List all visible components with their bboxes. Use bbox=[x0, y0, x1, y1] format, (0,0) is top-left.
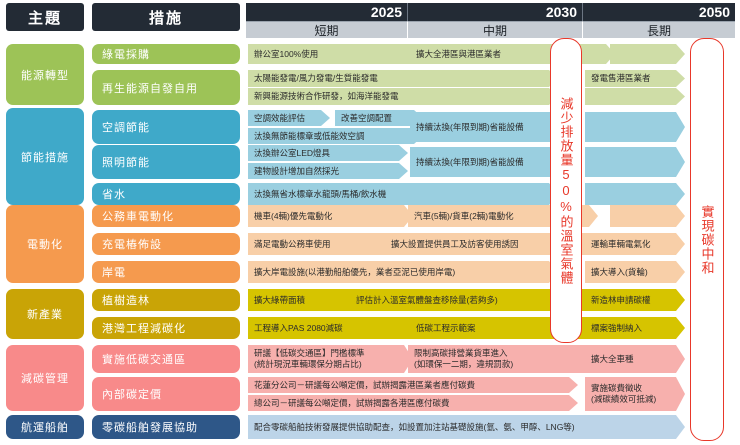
timeline-bar bbox=[610, 205, 685, 227]
timeline-bar: 總公司－研議每公噸定價，試辦揭露各港區應付碳費 bbox=[248, 395, 578, 411]
measure-3[interactable]: 空調節能 bbox=[92, 110, 240, 144]
timeline-bar: 改善空調配置 bbox=[335, 110, 423, 126]
measure-13[interactable]: 零碳船舶發展協助 bbox=[92, 415, 240, 439]
timeline-bar: 擴大導入(貨輪) bbox=[585, 261, 685, 283]
header-measure-label: 措施 bbox=[149, 7, 183, 28]
header-theme: 主題 bbox=[6, 3, 84, 31]
period-label: 短期 bbox=[314, 22, 338, 39]
header-period-mid: 中期 bbox=[408, 21, 583, 38]
timeline-bar: 辦公室100%使用 bbox=[248, 44, 438, 64]
measure-10[interactable]: 港灣工程減碳化 bbox=[92, 317, 240, 339]
theme-5[interactable]: 減碳管理 bbox=[6, 345, 84, 411]
timeline-bar: 實施碳費徵收 (減碳績效可抵減) bbox=[585, 377, 685, 411]
goal-callout-2: 實現碳中和 bbox=[690, 38, 724, 441]
timeline-bar: 工程導入PAS 2080減碳 bbox=[248, 317, 428, 339]
year-label: 2030 bbox=[546, 4, 577, 20]
timeline-bar: 持續汰換(年限到期)省能設備 bbox=[410, 112, 560, 142]
measure-8[interactable]: 岸電 bbox=[92, 261, 240, 283]
timeline-bar: 運輸車輛電氣化 bbox=[585, 233, 685, 255]
timeline-bar: 滿足電動公務車使用 bbox=[248, 233, 398, 255]
timeline-bar: 發電售港區業者 bbox=[585, 70, 685, 87]
timeline-bar: 花蓮分公司－研議每公噸定價，試辦揭露港區業者應付碳費 bbox=[248, 377, 578, 393]
timeline-bar: 研議【低碳交通區】門檻標準 (統計現況車輛環保分期占比) bbox=[248, 345, 413, 373]
theme-1[interactable]: 能源轉型 bbox=[6, 44, 84, 105]
timeline-bar: 擴大全港區與港區業者 bbox=[410, 44, 615, 64]
timeline-bar: 持續汰換(年限到期)省能設備 bbox=[410, 147, 560, 177]
timeline-bar: 新造林申請碳權 bbox=[585, 289, 685, 311]
timeline-bar: 新興能源技術合作研發，如海洋能發電 bbox=[248, 88, 558, 105]
timeline-bar: 建物設計增加自然採光 bbox=[248, 163, 408, 179]
measure-9[interactable]: 植樹造林 bbox=[92, 289, 240, 311]
timeline-bar: 汰換辦公室LED燈具 bbox=[248, 145, 408, 161]
timeline-bar bbox=[585, 112, 685, 142]
header-year-2050: 2050 bbox=[583, 3, 735, 21]
year-label: 2050 bbox=[699, 4, 730, 20]
roadmap-diagram: 主題 措施 2025 2030 2050 短期 中期 長期 辦公室100%使用擴… bbox=[0, 0, 740, 445]
timeline-bar bbox=[585, 147, 685, 177]
timeline-bar: 擴大岸電設施(以港勤船舶優先，業者亞泥已使用岸電) bbox=[248, 261, 558, 283]
timeline-bar: 機車(4輛)優先電動化 bbox=[248, 205, 413, 227]
timeline-bar: 限制高碳排營業貨車進入 (如環保一二期，違規罰款) bbox=[408, 345, 598, 373]
timeline-bar: 汰換無節能標章或低能效空調 bbox=[248, 128, 423, 144]
header-period-short: 短期 bbox=[246, 21, 408, 38]
timeline-bar: 標案強制納入 bbox=[585, 317, 685, 339]
header-year-2025: 2025 bbox=[246, 3, 408, 21]
header-measure: 措施 bbox=[92, 3, 240, 31]
measure-2[interactable]: 再生能源自發自用 bbox=[92, 70, 240, 105]
timeline-bar: 擴大全車種 bbox=[585, 345, 685, 373]
measure-11[interactable]: 實施低碳交通區 bbox=[92, 345, 240, 373]
period-label: 中期 bbox=[483, 22, 507, 39]
header-year-2030: 2030 bbox=[408, 3, 583, 21]
measure-6[interactable]: 公務車電動化 bbox=[92, 205, 240, 227]
year-label: 2025 bbox=[371, 4, 402, 20]
timeline-bar bbox=[585, 183, 685, 205]
measure-5[interactable]: 省水 bbox=[92, 183, 240, 205]
header-theme-label: 主題 bbox=[28, 7, 62, 28]
theme-4[interactable]: 新產業 bbox=[6, 289, 84, 339]
theme-6[interactable]: 航運船舶 bbox=[6, 415, 84, 439]
measure-12[interactable]: 內部碳定價 bbox=[92, 377, 240, 411]
timeline-bar bbox=[585, 88, 685, 105]
timeline-bar: 配合零碳船舶技術發展提供協助配查，如設置加注站基礎設施(氫、氨、甲醇、LNG等) bbox=[248, 415, 685, 439]
timeline-bar: 太陽能發電/風力發電/生質能發電 bbox=[248, 70, 558, 87]
goal-callout-1: 減少排放量50%的溫室氣體 bbox=[550, 38, 582, 343]
period-label: 長期 bbox=[647, 22, 671, 39]
header-period-long: 長期 bbox=[583, 21, 735, 38]
timeline-bar: 空調效能評估 bbox=[248, 110, 330, 126]
timeline-bar bbox=[610, 44, 685, 64]
theme-3[interactable]: 電動化 bbox=[6, 205, 84, 283]
measure-7[interactable]: 充電樁佈設 bbox=[92, 233, 240, 255]
timeline-bar: 汰換無省水標章水龍頭/馬桶/飲水機 bbox=[248, 183, 558, 205]
measure-4[interactable]: 照明節能 bbox=[92, 145, 240, 179]
measure-1[interactable]: 綠電採購 bbox=[92, 44, 240, 64]
theme-2[interactable]: 節能措施 bbox=[6, 108, 84, 205]
